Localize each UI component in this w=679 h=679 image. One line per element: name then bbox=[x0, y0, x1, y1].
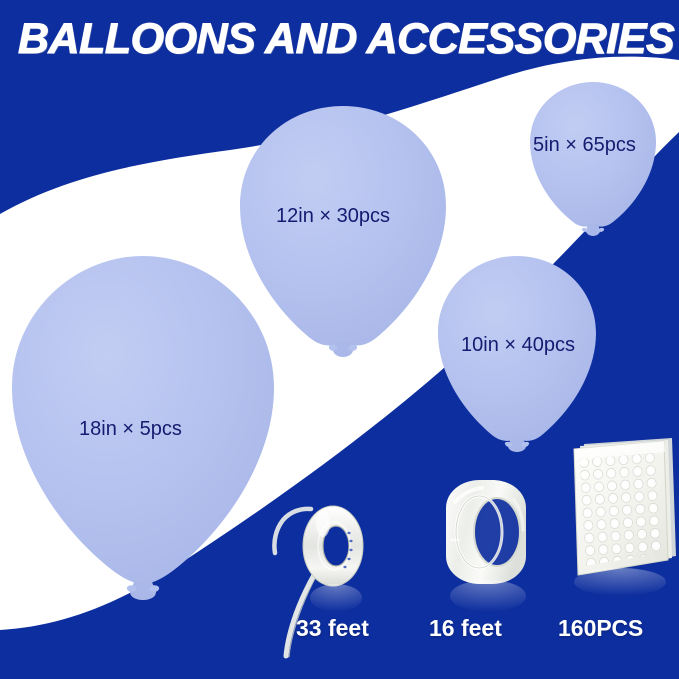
glue-dot-count-label: 160PCS bbox=[558, 617, 643, 640]
balloon-5in bbox=[530, 82, 656, 236]
balloon-18in-label: 18in × 5pcs bbox=[79, 419, 182, 439]
balloon-12in bbox=[240, 106, 446, 357]
balloon-5in-label: 5in × 65pcs bbox=[533, 135, 636, 155]
product-infographic: BALLOONS AND ACCESSORIES 18in × 5pcs 12i… bbox=[0, 0, 679, 679]
ribbon-length-label: 33 feet bbox=[296, 617, 369, 640]
glue-dot-count-unit: PCS bbox=[596, 615, 643, 641]
products-artwork bbox=[0, 0, 679, 679]
tape-roll bbox=[446, 480, 526, 612]
page-title: BALLOONS AND ACCESSORIES bbox=[18, 16, 674, 63]
glue-dot-sheets bbox=[569, 438, 678, 596]
tape-length-label: 16 feet bbox=[429, 617, 502, 640]
balloon-10in-label: 10in × 40pcs bbox=[461, 335, 575, 355]
balloon-12in-label: 12in × 30pcs bbox=[276, 206, 390, 226]
glue-dot-count-number: 160 bbox=[558, 615, 596, 641]
